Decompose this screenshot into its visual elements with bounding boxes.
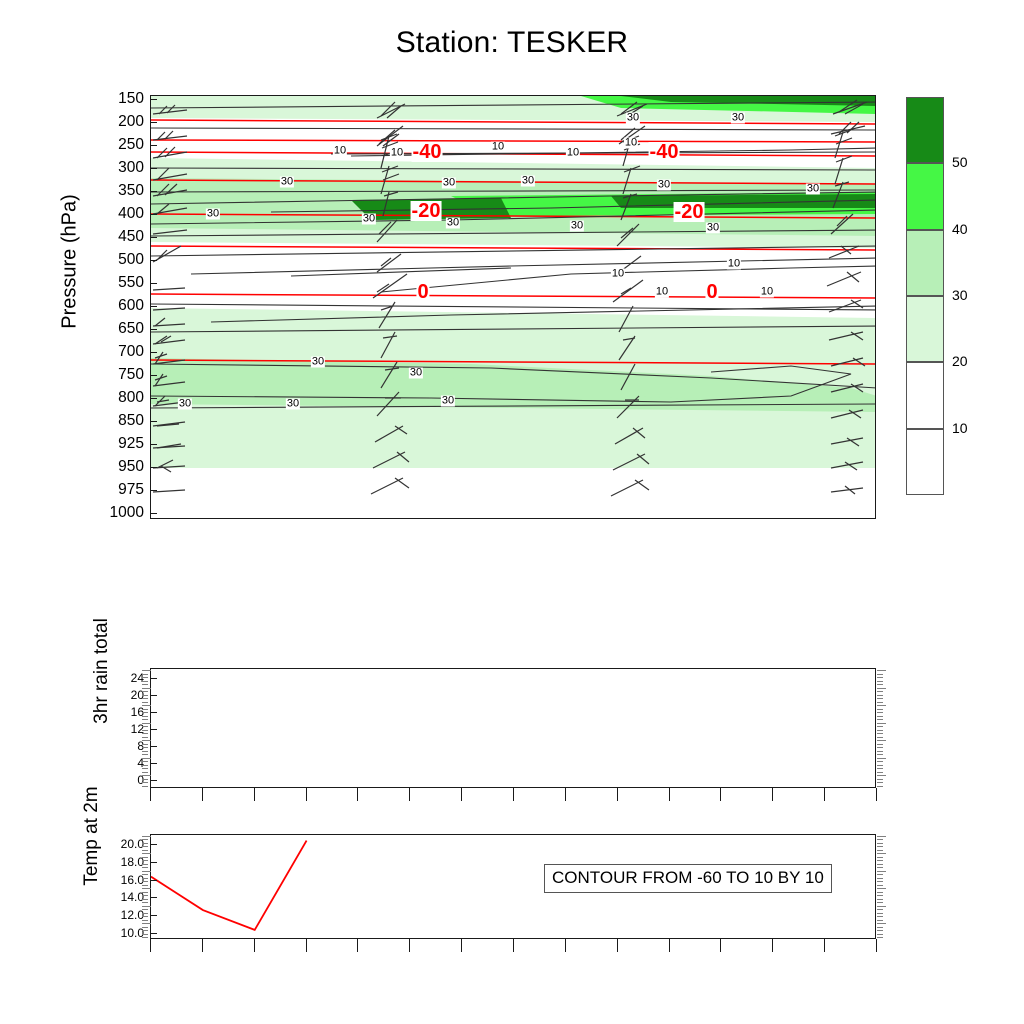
minor-tick (877, 705, 886, 706)
minor-tick (877, 895, 883, 896)
minor-tick (877, 937, 883, 938)
minor-tick (142, 853, 151, 854)
pressure-tick-mark (150, 191, 157, 192)
xtick (824, 939, 825, 952)
pressure-tick-950: 950 (84, 459, 144, 474)
pressure-tick-mark (150, 421, 157, 422)
xtick (824, 788, 825, 801)
minor-tick (142, 913, 148, 914)
rain-tick-mark (150, 695, 157, 696)
minor-tick (877, 885, 883, 886)
pressure-tick-500: 500 (84, 252, 144, 267)
temp-tick-mark (150, 862, 157, 863)
cross-section-panel[interactable]: 1010101010303030303030303030303030101010… (150, 95, 876, 519)
windspeed-contour-label: 30 (206, 209, 220, 220)
temp-tick-12.0: 12.0 (76, 908, 144, 922)
minor-tick (877, 853, 886, 854)
temp-tick-10.0: 10.0 (76, 926, 144, 940)
colorbar-tick-10: 10 (952, 420, 968, 436)
pressure-tick-mark (150, 513, 157, 514)
xtick (565, 788, 566, 801)
minor-tick (877, 878, 883, 879)
temperature-contour-label: -40 (412, 142, 443, 162)
rain-panel[interactable] (150, 668, 876, 788)
minor-tick (877, 730, 883, 731)
minor-tick (877, 695, 883, 696)
minor-tick (877, 747, 883, 748)
minor-tick-group (877, 670, 886, 786)
temperature-contour-label: 0 (705, 282, 718, 302)
minor-tick (877, 691, 883, 692)
minor-tick (877, 871, 886, 872)
minor-tick (877, 916, 883, 917)
minor-tick (877, 843, 883, 844)
minor-tick (142, 927, 148, 928)
minor-tick (142, 758, 151, 759)
minor-tick (877, 712, 883, 713)
xtick (254, 939, 255, 952)
pressure-tick-mark (150, 375, 157, 376)
pressure-tick-550: 550 (84, 275, 144, 290)
minor-tick (877, 775, 886, 776)
minor-tick (142, 691, 148, 692)
windspeed-contour-label: 10 (566, 148, 580, 159)
minor-tick (142, 765, 148, 766)
minor-tick (142, 705, 151, 706)
colorbar-band (906, 163, 944, 229)
pressure-tick-mark (150, 237, 157, 238)
minor-tick (142, 719, 148, 720)
minor-tick (142, 730, 148, 731)
minor-tick (142, 937, 148, 938)
minor-tick (142, 684, 148, 685)
xtick (357, 788, 358, 801)
xtick (202, 788, 203, 801)
minor-tick (877, 737, 883, 738)
minor-tick (877, 765, 883, 766)
minor-tick (877, 758, 886, 759)
minor-tick (142, 871, 151, 872)
temperature-contour-label: -20 (411, 201, 442, 221)
pressure-tick-mark (150, 214, 157, 215)
colorbar-tick-30: 30 (952, 287, 968, 303)
minor-tick (877, 902, 883, 903)
minor-tick (877, 716, 883, 717)
windspeed-contour-label: 10 (624, 138, 638, 149)
colorbar-band (906, 230, 944, 296)
rain-tick-24: 24 (90, 671, 144, 685)
pressure-tick-mark (150, 99, 157, 100)
cross-section-plot (151, 96, 875, 518)
pressure-tick-mark (150, 467, 157, 468)
minor-tick (142, 846, 148, 847)
windspeed-contour-label: 30 (731, 113, 745, 124)
minor-tick (142, 726, 148, 727)
minor-tick (877, 836, 886, 837)
minor-tick (142, 888, 151, 889)
pressure-tick-1000: 1000 (84, 505, 144, 520)
page-title: Station: TESKER (0, 26, 1024, 60)
pressure-tick-mark (150, 283, 157, 284)
minor-tick (142, 906, 151, 907)
minor-tick (877, 723, 886, 724)
pressure-tick-mark (150, 444, 157, 445)
xtick (461, 939, 462, 952)
minor-tick (142, 916, 148, 917)
minor-tick (142, 775, 151, 776)
rain-tick-mark (150, 712, 157, 713)
windspeed-contour-label: 10 (760, 287, 774, 298)
minor-tick (877, 779, 883, 780)
windspeed-contour-label: 30 (441, 396, 455, 407)
windspeed-contour-label: 30 (280, 177, 294, 188)
minor-tick (877, 719, 883, 720)
windspeed-contour-label: 30 (570, 221, 584, 232)
pressure-tick-150: 150 (84, 91, 144, 106)
minor-tick (877, 899, 883, 900)
xtick (669, 939, 670, 952)
pressure-tick-850: 850 (84, 413, 144, 428)
minor-tick (142, 864, 148, 865)
minor-tick (877, 888, 886, 889)
minor-tick (142, 885, 148, 886)
rain-xaxis-ticks (150, 788, 876, 801)
minor-tick (142, 702, 148, 703)
minor-tick (142, 670, 151, 671)
temp-tick-16.0: 16.0 (76, 873, 144, 887)
minor-tick (877, 860, 883, 861)
minor-tick (142, 677, 148, 678)
minor-tick (877, 761, 883, 762)
xtick (409, 788, 410, 801)
pressure-tick-mark (150, 260, 157, 261)
windspeed-contour-label: 10 (333, 146, 347, 157)
xtick (150, 788, 151, 801)
temperature-contour-label: -40 (649, 142, 680, 162)
minor-tick (142, 857, 148, 858)
minor-tick (877, 754, 883, 755)
pressure-tick-mark (150, 122, 157, 123)
xtick (772, 788, 773, 801)
minor-tick (877, 927, 883, 928)
xtick (720, 939, 721, 952)
minor-tick (142, 698, 148, 699)
pressure-tick-mark (150, 145, 157, 146)
windspeed-contour-label: 10 (611, 269, 625, 280)
minor-tick (142, 902, 148, 903)
minor-tick-group (142, 836, 151, 937)
pressure-tick-mark (150, 490, 157, 491)
temp-tick-14.0: 14.0 (76, 890, 144, 904)
minor-tick (142, 779, 148, 780)
minor-tick (877, 909, 883, 910)
pressure-tick-mark (150, 329, 157, 330)
minor-tick (142, 747, 148, 748)
windspeed-contour-label: 30 (521, 176, 535, 187)
windspeed-contour-label: 30 (311, 357, 325, 368)
minor-tick (142, 733, 148, 734)
minor-tick (877, 709, 883, 710)
minor-tick (877, 864, 883, 865)
minor-tick (142, 850, 148, 851)
minor-tick (877, 857, 883, 858)
temp-tick-mark (150, 915, 157, 916)
temp-tick-mark (150, 897, 157, 898)
colorbar-band (906, 296, 944, 362)
windspeed-contour-label: 30 (806, 184, 820, 195)
temp-tick-mark (150, 880, 157, 881)
windspeed-contour-label: 10 (491, 142, 505, 153)
colorbar-band (906, 429, 944, 495)
pressure-tick-925: 925 (84, 436, 144, 451)
temp-2m-line (151, 841, 307, 930)
minor-tick (142, 709, 148, 710)
windspeed-contour-label: 10 (655, 287, 669, 298)
windspeed-contour-label: 30 (706, 223, 720, 234)
minor-tick (142, 934, 148, 935)
pressure-tick-200: 200 (84, 114, 144, 129)
xtick (772, 939, 773, 952)
rain-tick-mark (150, 729, 157, 730)
xtick (306, 788, 307, 801)
xtick (513, 939, 514, 952)
minor-tick (142, 737, 148, 738)
minor-tick (877, 751, 883, 752)
minor-tick (877, 674, 883, 675)
minor-tick (877, 702, 883, 703)
minor-tick (142, 878, 148, 879)
windspeed-contour-label: 30 (657, 180, 671, 191)
rain-tick-mark (150, 763, 157, 764)
minor-tick (142, 716, 148, 717)
colorbar-tick-50: 50 (952, 154, 968, 170)
rain-tick-mark (150, 780, 157, 781)
minor-tick (877, 782, 883, 783)
temp-tick-20.0: 20.0 (76, 837, 144, 851)
pressure-tick-350: 350 (84, 183, 144, 198)
minor-tick (142, 772, 148, 773)
wind-barb (371, 478, 409, 494)
minor-tick (877, 867, 883, 868)
minor-tick (877, 934, 883, 935)
minor-tick (877, 850, 883, 851)
minor-tick (877, 670, 886, 671)
minor-tick (142, 688, 151, 689)
windspeed-contour-label: 10 (727, 259, 741, 270)
minor-tick (142, 782, 148, 783)
pressure-tick-650: 650 (84, 321, 144, 336)
windspeed-contour-label: 30 (362, 214, 376, 225)
pressure-tick-750: 750 (84, 367, 144, 382)
figure-root: Station: TESKER Pressure (hPa) 150200250… (0, 0, 1024, 1024)
colorbar-band (906, 97, 944, 163)
pressure-tick-800: 800 (84, 390, 144, 405)
minor-tick (877, 920, 883, 921)
minor-tick (142, 895, 148, 896)
xtick (565, 939, 566, 952)
minor-tick (877, 740, 886, 741)
minor-tick (142, 761, 148, 762)
xtick (876, 939, 877, 952)
xtick (669, 788, 670, 801)
temp-tick-18.0: 18.0 (76, 855, 144, 869)
pressure-tick-600: 600 (84, 298, 144, 313)
xtick (720, 788, 721, 801)
pressure-tick-700: 700 (84, 344, 144, 359)
rain-tick-mark (150, 678, 157, 679)
minor-tick (142, 881, 148, 882)
minor-tick-group (877, 836, 886, 937)
minor-tick (877, 684, 883, 685)
colorbar-tick-40: 40 (952, 221, 968, 237)
xtick (254, 788, 255, 801)
minor-tick (142, 674, 148, 675)
temp-xaxis-ticks (150, 939, 876, 952)
xtick (150, 939, 151, 952)
colorbar-tick-20: 20 (952, 353, 968, 369)
minor-tick (877, 906, 886, 907)
minor-tick (142, 860, 148, 861)
pressure-tick-mark (150, 306, 157, 307)
colorbar-band (906, 362, 944, 428)
pressure-tick-300: 300 (84, 160, 144, 175)
wind-barb (831, 486, 863, 494)
minor-tick (142, 744, 148, 745)
rain-tick-mark (150, 746, 157, 747)
xtick (202, 939, 203, 952)
minor-tick (142, 786, 148, 787)
temp-axis-ticklabels: 20.018.016.014.012.010.0 (72, 834, 144, 939)
pressure-tick-mark (150, 352, 157, 353)
pressure-tick-mark (150, 398, 157, 399)
temperature-contour-label: 0 (416, 282, 429, 302)
minor-tick (142, 751, 148, 752)
pressure-tick-400: 400 (84, 206, 144, 221)
minor-tick (142, 740, 151, 741)
xtick (357, 939, 358, 952)
minor-tick (877, 846, 883, 847)
minor-tick (142, 723, 151, 724)
xtick (876, 788, 877, 801)
windspeed-contour-label: 30 (446, 218, 460, 229)
minor-tick (142, 930, 148, 931)
pressure-tick-450: 450 (84, 229, 144, 244)
xtick (461, 788, 462, 801)
wind-speed-colorbar[interactable]: 5040302010 (906, 97, 944, 495)
minor-tick (877, 839, 883, 840)
minor-tick (142, 695, 148, 696)
minor-tick (877, 923, 886, 924)
minor-tick (142, 874, 148, 875)
rain-tick-20: 20 (90, 688, 144, 702)
xtick (617, 939, 618, 952)
minor-tick (877, 726, 883, 727)
temp-tick-mark (150, 844, 157, 845)
minor-tick (877, 698, 883, 699)
pressure-tick-975: 975 (84, 482, 144, 497)
minor-tick (142, 836, 151, 837)
rain-tick-16: 16 (90, 705, 144, 719)
minor-tick (877, 892, 883, 893)
minor-tick (142, 892, 148, 893)
xtick (409, 939, 410, 952)
temp-tick-mark (150, 933, 157, 934)
pressure-axis-ticklabels: 1502002503003504004505005506006507007508… (78, 95, 144, 519)
minor-tick (877, 733, 883, 734)
wind-barb (611, 480, 649, 496)
minor-tick (877, 930, 883, 931)
windspeed-contour-label: 10 (390, 148, 404, 159)
minor-tick (142, 909, 148, 910)
minor-tick (877, 768, 883, 769)
minor-tick (142, 754, 148, 755)
minor-tick (877, 677, 883, 678)
minor-tick (877, 786, 883, 787)
minor-tick (142, 923, 151, 924)
minor-tick (877, 681, 883, 682)
temperature-contour-label: -20 (674, 202, 705, 222)
xtick (513, 788, 514, 801)
minor-tick (142, 867, 148, 868)
rain-plot (151, 669, 876, 788)
pressure-tick-250: 250 (84, 137, 144, 152)
minor-tick (877, 913, 883, 914)
pressure-tick-mark (150, 168, 157, 169)
minor-tick (877, 772, 883, 773)
windspeed-contour-label: 30 (409, 368, 423, 379)
xtick (306, 939, 307, 952)
minor-tick (877, 874, 883, 875)
minor-tick (877, 881, 883, 882)
minor-tick (877, 744, 883, 745)
minor-tick (142, 920, 148, 921)
minor-tick (142, 839, 148, 840)
minor-tick (142, 843, 148, 844)
windspeed-contour-label: 30 (286, 399, 300, 410)
minor-tick (142, 712, 148, 713)
minor-tick (142, 681, 148, 682)
contour-annotation: CONTOUR FROM -60 TO 10 BY 10 (544, 864, 832, 893)
minor-tick-group (142, 670, 151, 786)
windspeed-contour-label: 30 (442, 178, 456, 189)
minor-tick (142, 899, 148, 900)
wind-barb (153, 490, 185, 492)
windspeed-contour-label: 30 (178, 399, 192, 410)
xtick (617, 788, 618, 801)
minor-tick (877, 688, 886, 689)
minor-tick (142, 768, 148, 769)
windspeed-contour-label: 30 (626, 113, 640, 124)
